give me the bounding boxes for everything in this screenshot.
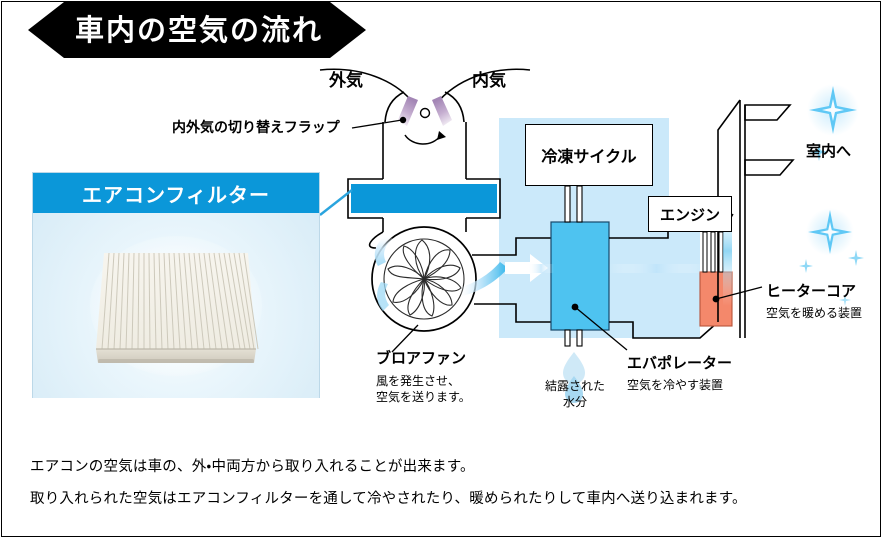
blower-fan-description-line2: 空気を送ります。 (376, 390, 471, 406)
filter-panel-title: エアコンフィルター (33, 173, 319, 213)
blower-fan-description-line1: 風を発生させ、 (376, 374, 460, 390)
evaporator-description: 空気を冷やす装置 (627, 378, 723, 394)
blower-fan-title: ブロアファン (376, 349, 466, 369)
refrigeration-cycle-box: 冷凍サイクル (525, 124, 653, 186)
caption-line-1: エアコンの空気は車の、外・中両方から取り入れることが出来ます。 (30, 455, 850, 476)
air-switch-flap-label: 内外気の切り替えフラップ (172, 119, 340, 137)
outside-air-label: 外気 (329, 70, 363, 92)
page-title: 車内の空気の流れ (71, 16, 323, 45)
caption-line-2: 取り入れられた空気はエアコンフィルターを通して冷やされたり、暖められたりして車内… (30, 487, 850, 508)
inside-air-label: 内気 (472, 70, 506, 92)
cabin-air-filter-panel: エアコンフィルター (32, 172, 320, 398)
title-banner: 車内の空気の流れ (28, 2, 366, 58)
refrigeration-cycle-label: 冷凍サイクル (541, 143, 636, 167)
filter-panel-image-area (33, 213, 319, 398)
heater-core-description: 空気を暖める装置 (766, 306, 862, 322)
condensate-label-line1: 結露された (536, 379, 614, 395)
infographic-root: 車内の空気の流れ エアコンフィルター (0, 0, 884, 540)
heater-core-title: ヒーターコア (766, 282, 856, 302)
to-cabin-label: 室内へ (806, 142, 851, 162)
evaporator-title: エバポレーター (627, 354, 732, 374)
caption-block: エアコンの空気は車の、外・中両方から取り入れることが出来ます。 取り入れられた空… (30, 455, 850, 519)
condensate-label-line2: 水分 (536, 395, 614, 411)
engine-box: エンジン (648, 196, 732, 232)
engine-label: エンジン (660, 204, 720, 225)
cabin-air-filter-photo (88, 231, 264, 381)
